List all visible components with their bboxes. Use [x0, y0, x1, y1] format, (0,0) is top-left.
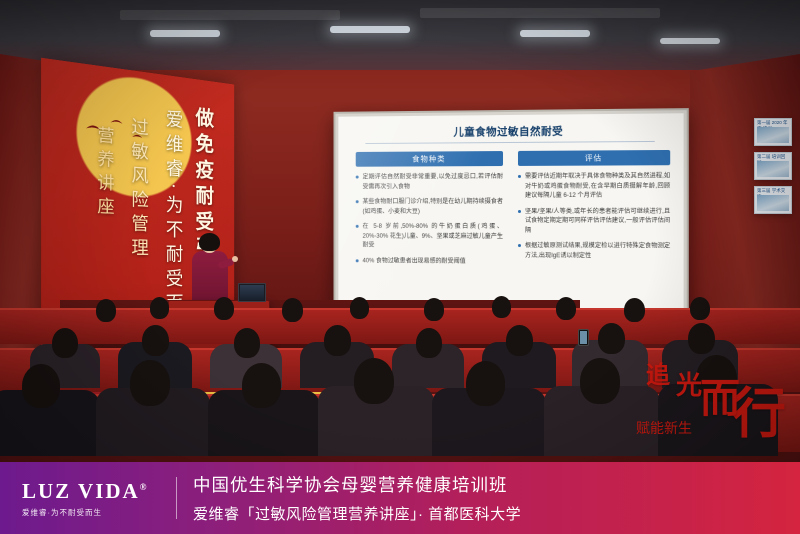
banner-calligraphy-col3: 过敏风险管理 — [126, 116, 151, 262]
wall-board-image — [757, 127, 789, 143]
audience-head — [150, 297, 169, 319]
ceiling-light — [660, 38, 720, 44]
caption-text: 中国优生科学协会母婴营养健康培训班 爱维睿「过敏风险管理营养讲座」· 首都医科大… — [193, 472, 521, 524]
slide-bullet: 定期评估自然耐受非常重要,以免过度忌口,若评估耐受需再次引入食物 — [356, 172, 503, 191]
audience-head — [492, 296, 511, 318]
art-char-1: 行 — [732, 369, 786, 448]
caption-line-2: 爱维睿「过敏风险管理营养讲座」· 首都医科大学 — [193, 503, 521, 524]
audience-head — [234, 328, 260, 358]
slide-title: 儿童食物过敏自然耐受 — [338, 122, 683, 140]
caption-line-1: 中国优生科学协会母婴营养健康培训班 — [193, 472, 521, 497]
audience-head — [52, 328, 78, 358]
audience-head — [282, 298, 303, 322]
audience-head — [466, 361, 505, 406]
audience-head — [354, 358, 394, 404]
slide-bullet: 某些食物耐口服门诊介绍,特别是在幼儿期持续摄食者(如鸡蛋、小麦和大豆) — [356, 197, 503, 216]
art-subtitle: 赋能新生 — [636, 418, 692, 438]
brand-name-text: LUZ VIDA — [22, 479, 140, 503]
speaker-hair — [199, 233, 220, 251]
ceiling — [0, 0, 800, 70]
wall-board: 第三届 学术交流 — [754, 186, 792, 214]
audience-head — [416, 328, 442, 358]
audience-head — [350, 297, 369, 319]
ceiling-light — [520, 30, 590, 37]
audience-head — [624, 298, 645, 322]
audience-head — [506, 325, 533, 356]
art-char-3: 光 — [676, 365, 702, 402]
brand-logo: LUZ VIDA® 爱维睿·为不耐受而生 — [0, 479, 172, 518]
brand-name: LUZ VIDA® — [22, 479, 172, 504]
ceiling-panel — [420, 8, 660, 18]
registered-mark: ® — [140, 482, 149, 492]
slide-column-header: 评估 — [518, 150, 670, 166]
audience-head — [242, 363, 281, 408]
slide-column-body: 需要评估近期年取决于具体食物种类及其自然进程,如对牛奶或鸡蛋食物耐受,在含早期白… — [518, 171, 670, 260]
phone-screen — [578, 329, 589, 346]
wall-board: 第二届 培训回顾 — [754, 152, 792, 180]
audience-head — [690, 297, 710, 320]
banner-calligraphy-col4: 营养讲座 — [91, 125, 116, 221]
audience-head — [130, 360, 170, 406]
caption-divider — [176, 477, 177, 519]
wall-board: 第一届 2020 年度 培训 — [754, 118, 792, 146]
slide-bullet: 坚果/坚果/人等类,或年长的患者能评估可继续进行,且试食物定期定期可同样评估评估… — [518, 206, 670, 235]
audience-head — [96, 299, 116, 322]
photo-scene: 做免疫耐受引领者 爱维睿·为不耐受而生 过敏风险管理 营养讲座 第一届 2020… — [0, 0, 800, 534]
caption-bar: LUZ VIDA® 爱维睿·为不耐受而生 中国优生科学协会母婴营养健康培训班 爱… — [0, 462, 800, 534]
slide-bullet: 在 5-8 岁前,50%-80% 的牛奶蛋白质(鸡蛋、20%-30% 花生)儿童… — [356, 222, 503, 251]
audience-head — [142, 325, 169, 356]
slide-bullet: 需要评估近期年取决于具体食物种类及其自然进程,如对牛奶或鸡蛋食物耐受,在含早期白… — [518, 171, 670, 200]
slide-column-right: 评估 需要评估近期年取决于具体食物种类及其自然进程,如对牛奶或鸡蛋食物耐受,在含… — [518, 150, 670, 267]
art-char-2: 而 — [700, 366, 740, 424]
audience-head — [214, 297, 234, 320]
ceiling-light — [150, 30, 220, 37]
wall-board-image — [757, 161, 789, 177]
audience-head — [324, 325, 351, 356]
audience-head — [556, 297, 576, 320]
ceiling-light — [330, 26, 410, 33]
audience-head — [22, 364, 60, 408]
brand-tagline: 爱维睿·为不耐受而生 — [22, 507, 172, 518]
slide-column-header: 食物种类 — [356, 151, 503, 167]
audience-head — [424, 298, 444, 321]
wall-board-image — [757, 195, 789, 211]
slide-title-rule — [365, 141, 654, 144]
right-calligraphy-artwork: 行 而 光 追 赋能新生 — [608, 330, 788, 450]
ceiling-panel — [120, 10, 340, 20]
art-char-4: 追 — [646, 355, 670, 390]
